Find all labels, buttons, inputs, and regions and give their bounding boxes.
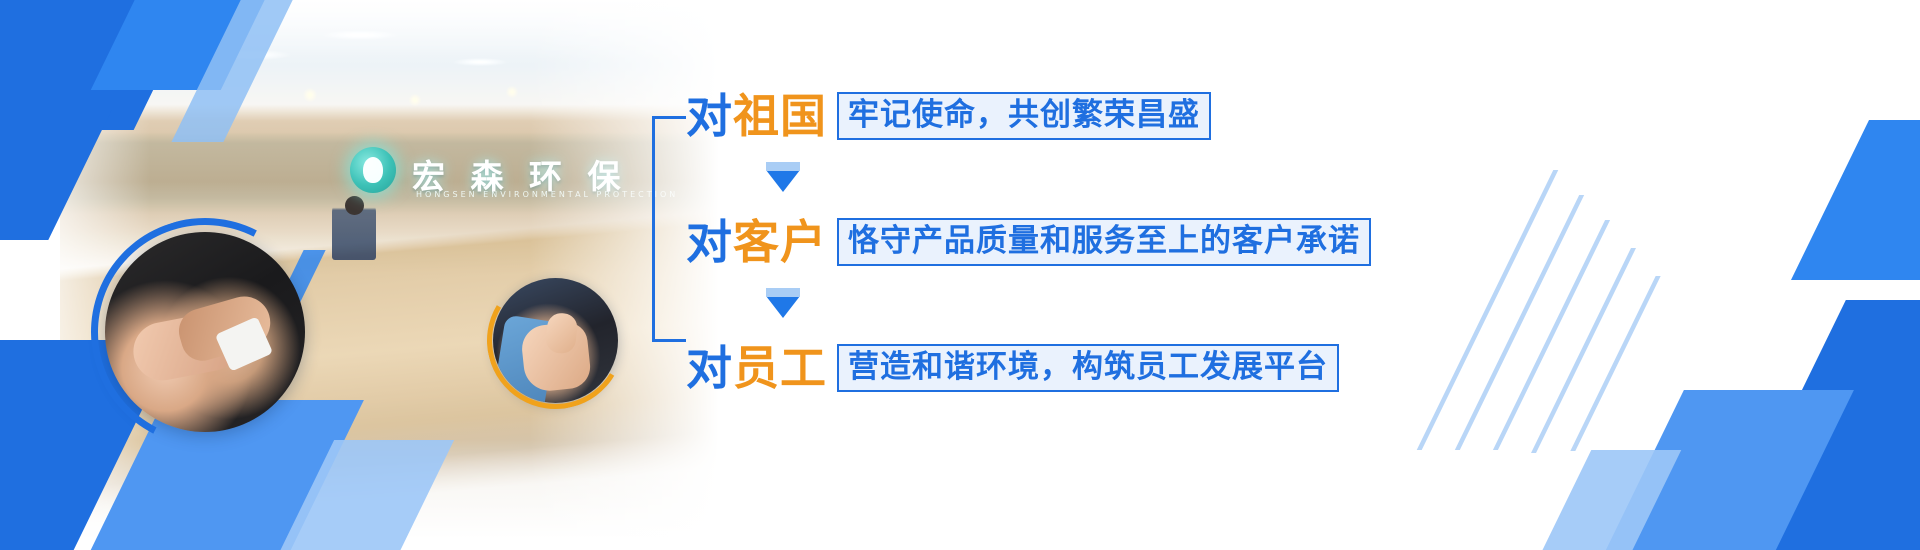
reception-staff [332, 196, 376, 260]
decor-line-1 [1417, 170, 1559, 450]
value-statement-yuangong: 营造和谐环境，构筑员工发展平台 [837, 344, 1339, 392]
value-keyword-zuguo: 祖国 [733, 89, 827, 143]
decor-line-2 [1455, 195, 1584, 450]
value-keyword-yuangong: 员工 [733, 341, 827, 395]
value-heading-zuguo: 对祖国 [686, 93, 827, 139]
decor-line-5 [1570, 276, 1660, 451]
decor-shape-bottom-right-3 [1791, 120, 1920, 280]
value-heading-kehu: 对客户 [686, 219, 827, 265]
value-prefix-kehu: 对 [686, 215, 733, 269]
value-statement-kehu: 恪守产品质量和服务至上的客户承诺 [837, 218, 1371, 266]
value-statement-zuguo: 牢记使命，共创繁荣昌盛 [837, 92, 1211, 140]
value-keyword-kehu: 客户 [733, 215, 827, 269]
value-prefix-zuguo: 对 [686, 89, 733, 143]
value-prefix-yuangong: 对 [686, 341, 733, 395]
value-row-zuguo: 对祖国 牢记使命，共创繁荣昌盛 [686, 92, 1211, 140]
value-row-kehu: 对客户 恪守产品质量和服务至上的客户承诺 [686, 218, 1371, 266]
values-list: 对祖国 牢记使命，共创繁荣昌盛 对客户 恪守产品质量和服务至上的客户承诺 对员工… [652, 74, 1352, 384]
value-row-yuangong: 对员工 营造和谐环境，构筑员工发展平台 [686, 344, 1339, 392]
company-values-banner: 宏 森 环 保 HONGSEN ENVIRONMENTAL PROTECTION [0, 0, 1920, 550]
values-bracket [652, 116, 686, 342]
leaf-globe-logo-icon [350, 147, 396, 193]
down-arrow-icon-1 [766, 170, 800, 192]
value-heading-yuangong: 对员工 [686, 345, 827, 391]
down-arrow-icon-2 [766, 296, 800, 318]
